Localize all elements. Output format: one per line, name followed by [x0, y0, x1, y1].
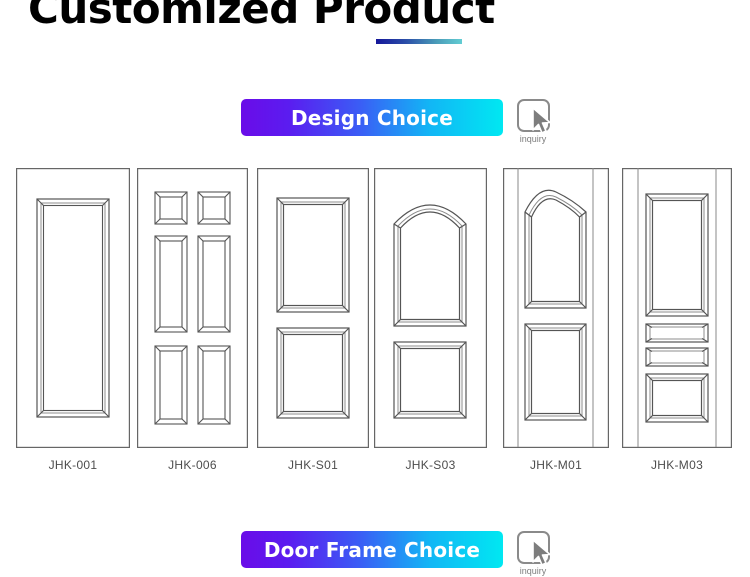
- door-art-jhk-m01: [503, 168, 609, 448]
- design-choice-row: Design Choice inquiry: [241, 99, 553, 144]
- page-title: Customized Product: [28, 0, 495, 33]
- cursor-arrow-glyph: [531, 107, 553, 135]
- cursor-arrow-icon[interactable]: [517, 99, 550, 132]
- door-card-jhk-m01[interactable]: JHK-M01: [503, 168, 609, 472]
- door-card-jhk-m03[interactable]: JHK-M03: [622, 168, 732, 472]
- title-divider: [376, 39, 462, 44]
- door-design-gallery: JHK-001: [0, 168, 750, 478]
- door-frame-inquiry-button[interactable]: inquiry: [513, 531, 553, 576]
- door-card-jhk-s03[interactable]: JHK-S03: [374, 168, 487, 472]
- door-label-jhk-s01: JHK-S01: [288, 458, 338, 472]
- door-label-jhk-m01: JHK-M01: [530, 458, 582, 472]
- door-art-jhk-s01: [257, 168, 369, 448]
- door-frame-inquiry-label: inquiry: [520, 566, 547, 576]
- door-card-jhk-001[interactable]: JHK-001: [16, 168, 130, 472]
- cursor-arrow-icon[interactable]: [517, 531, 550, 564]
- door-card-jhk-006[interactable]: JHK-006: [137, 168, 248, 472]
- door-art-jhk-s03: [374, 168, 487, 448]
- door-art-jhk-m03: [622, 168, 732, 448]
- customized-product-page: Customized Product Design Choice inquiry: [0, 0, 750, 577]
- design-choice-button[interactable]: Design Choice: [241, 99, 503, 136]
- door-label-jhk-001: JHK-001: [49, 458, 98, 472]
- door-label-jhk-006: JHK-006: [168, 458, 217, 472]
- door-label-jhk-m03: JHK-M03: [651, 458, 703, 472]
- door-frame-choice-button[interactable]: Door Frame Choice: [241, 531, 503, 568]
- design-inquiry-label: inquiry: [520, 134, 547, 144]
- cursor-arrow-glyph: [531, 539, 553, 567]
- door-art-jhk-001: [16, 168, 130, 448]
- door-label-jhk-s03: JHK-S03: [405, 458, 455, 472]
- door-card-jhk-s01[interactable]: JHK-S01: [257, 168, 369, 472]
- door-frame-choice-row: Door Frame Choice inquiry: [241, 531, 553, 576]
- door-art-jhk-006: [137, 168, 248, 448]
- design-inquiry-button[interactable]: inquiry: [513, 99, 553, 144]
